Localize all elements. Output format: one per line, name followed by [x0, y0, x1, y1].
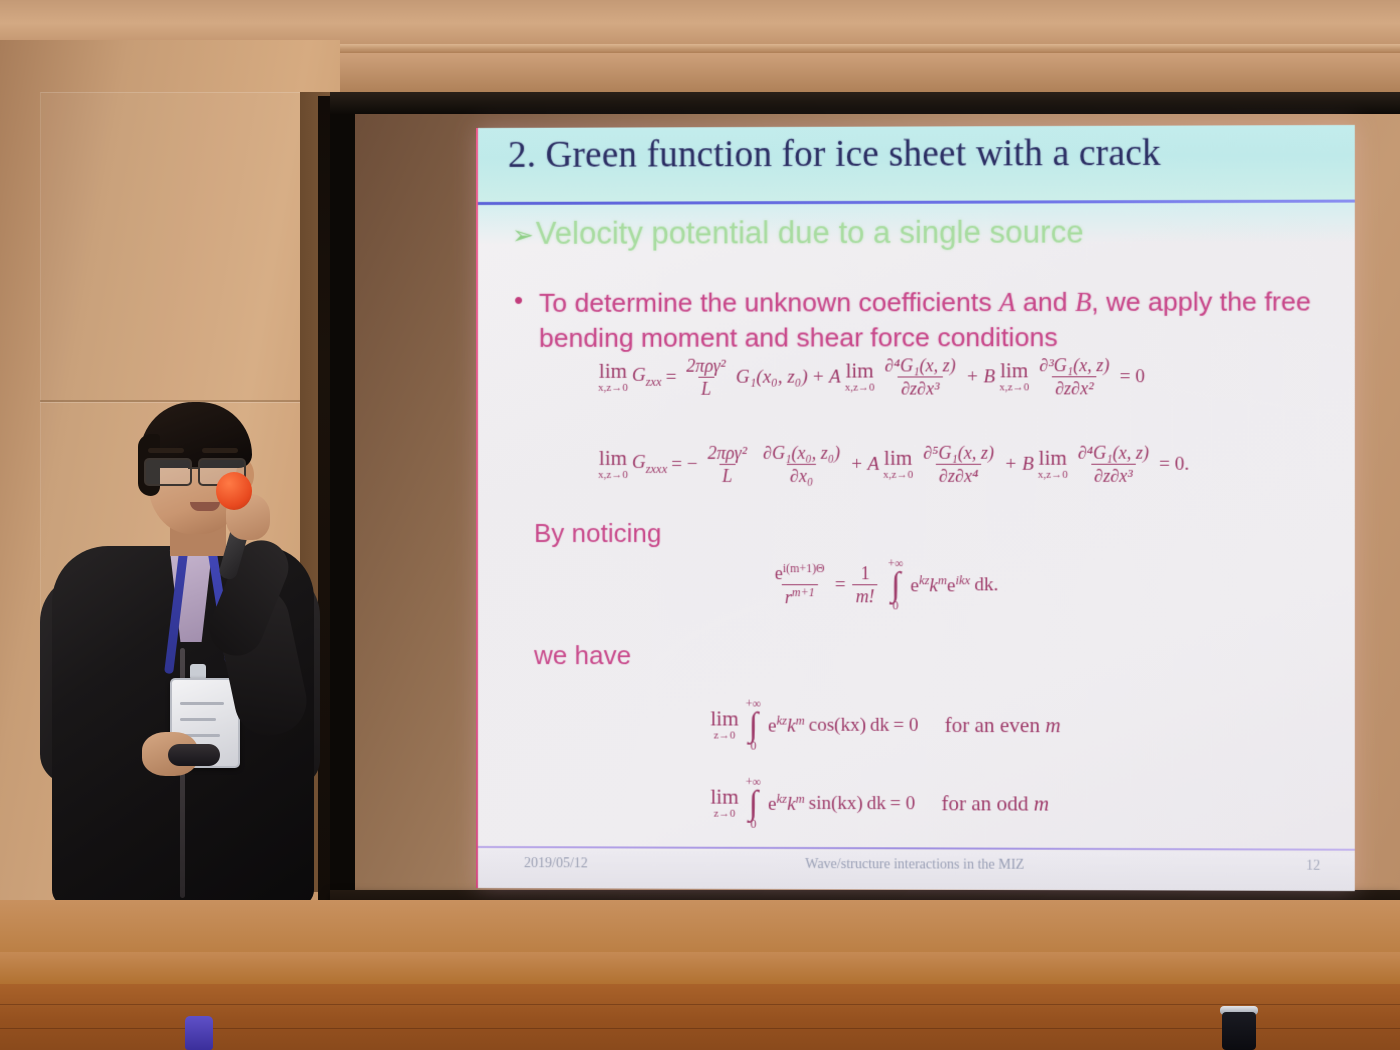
eq5-integrand: ekzkm — [768, 791, 805, 815]
eq2-frac1b: ∂G₁(x₀, z₀) ∂x₀ — [757, 443, 846, 486]
eq1-lim1: lim x,z→0 — [598, 361, 628, 394]
eq1-plus-b: + B — [966, 366, 995, 388]
eq5-integral: +∞ ∫ 0 — [746, 777, 761, 831]
eq3-differential: dk. — [974, 574, 998, 596]
presentation-clicker — [168, 744, 220, 766]
eq2-equals: = − — [671, 454, 697, 476]
eq2-plus-a: + A — [850, 453, 879, 475]
equation-3: ei(m+1)Θ rm+1 = 1 m! +∞ ∫ 0 ekzkmeikx dk… — [769, 558, 999, 612]
we-have-label: we have — [534, 640, 631, 671]
floor-board-line-1 — [0, 1004, 1400, 1005]
eq3-frac1: ei(m+1)Θ rm+1 — [769, 562, 831, 607]
eq4-trig: cos(kx) — [809, 714, 866, 736]
eq4-differential: dk — [870, 714, 889, 736]
microphone-icon — [216, 472, 252, 510]
wall-panel-upper — [40, 92, 341, 403]
equation-2: lim x,z→0 Gzxxx = − 2πργ² L ∂G₁(x₀, z₀) … — [598, 443, 1189, 487]
slide-subheading: ➢Velocity potential due to a single sour… — [512, 214, 1084, 252]
glasses-bridge — [188, 467, 200, 469]
equation-4: lim z→0 +∞ ∫ 0 ekzkm cos(kx) dk = 0 for … — [710, 698, 1060, 752]
bullet-var-a: A — [999, 287, 1015, 317]
eq5-differential: dk — [867, 793, 886, 815]
eq1-frac3: ∂³G₁(x, z) ∂z∂x² — [1033, 355, 1115, 399]
eq1-g1-term: G₁(x₀, z₀) — [736, 366, 808, 388]
eq2-lim1: lim x,z→0 — [598, 448, 628, 481]
eq2-lim2: lim x,z→0 — [883, 448, 913, 481]
eq1-result: = 0 — [1120, 366, 1145, 388]
eq3-frac2: 1 m! — [850, 563, 881, 606]
presentation-photo-scene: 2. Green function for ice sheet with a c… — [0, 0, 1400, 1050]
eq4-integrand: ekzkm — [768, 713, 805, 737]
badge-line-1 — [180, 702, 224, 705]
eq2-lim3: lim x,z→0 — [1038, 448, 1068, 481]
eq4-integral: +∞ ∫ 0 — [746, 698, 761, 751]
slide-footer: 2019/05/12 Wave/structure interactions i… — [478, 850, 1355, 891]
blue-bottle — [185, 1016, 213, 1050]
lens-left — [144, 458, 192, 486]
mouth — [190, 502, 220, 511]
eq3-equals: = — [835, 574, 846, 596]
badge-line-2 — [180, 718, 216, 721]
eq3-integral: +∞ ∫ 0 — [888, 558, 903, 612]
slide-subheading-text: Velocity potential due to a single sourc… — [536, 214, 1084, 250]
eq4-result: = 0 — [893, 714, 918, 736]
footer-page-number: 12 — [1306, 859, 1320, 875]
equation-5: lim z→0 +∞ ∫ 0 ekzkm sin(kx) dk = 0 for … — [710, 777, 1049, 831]
eq2-frac1: 2πργ² L — [702, 443, 753, 486]
eq5-lim: lim z→0 — [710, 787, 738, 820]
bullet-part2: and — [1015, 287, 1075, 317]
eq2-result: = 0. — [1159, 453, 1189, 475]
slide-title: 2. Green function for ice sheet with a c… — [508, 131, 1334, 177]
equation-1: lim x,z→0 Gzxx = 2πργ² L G₁(x₀, z₀) + A … — [598, 355, 1145, 399]
footer-title: Wave/structure interactions in the MIZ — [478, 856, 1355, 875]
wall-base — [0, 900, 1400, 954]
eq1-frac2: ∂⁴G₁(x, z) ∂z∂x³ — [879, 355, 962, 399]
by-noticing-label: By noticing — [534, 518, 661, 549]
eyebrow-left — [148, 448, 184, 453]
arrow-bullet-icon: ➢ — [512, 220, 534, 250]
eq2-frac3: ∂⁴G₁(x, z) ∂z∂x³ — [1072, 443, 1155, 487]
eq4-condition: for an even m — [945, 713, 1061, 738]
bullet-item: • To determine the unknown coefficients … — [514, 284, 1330, 356]
bullet-text: To determine the unknown coefficients A … — [539, 284, 1330, 356]
eyebrow-right — [202, 448, 238, 453]
screen-top-bar — [330, 92, 1400, 114]
bullet-var-b: B — [1075, 287, 1091, 317]
eq1-lim2: lim x,z→0 — [845, 361, 875, 394]
eq2-plus-b: + B — [1004, 453, 1033, 475]
eq3-integrand: ekzkmeikx — [910, 573, 970, 597]
eq2-lhs-fn: Gzxxx — [632, 452, 667, 477]
eq1-equals: = — [666, 366, 677, 388]
eq5-condition: for an odd m — [941, 791, 1049, 816]
eq1-lim3: lim x,z→0 — [999, 360, 1029, 393]
eq4-lim: lim z→0 — [710, 709, 738, 742]
eq2-frac2: ∂⁵G₁(x, z) ∂z∂x⁴ — [917, 443, 1000, 487]
eq1-frac1: 2πργ² L — [680, 356, 731, 399]
eq5-result: = 0 — [890, 793, 915, 815]
bullet-dot-icon: • — [514, 286, 523, 356]
eq1-lhs-fn: Gzxx — [632, 365, 662, 390]
dark-bottle — [1222, 1012, 1256, 1050]
eq5-trig: sin(kx) — [809, 793, 863, 815]
projected-slide: 2. Green function for ice sheet with a c… — [478, 125, 1355, 891]
stage-face — [0, 952, 1400, 986]
bullet-part1: To determine the unknown coefficients — [539, 287, 999, 318]
eq1-plus-a: + A — [812, 366, 841, 388]
